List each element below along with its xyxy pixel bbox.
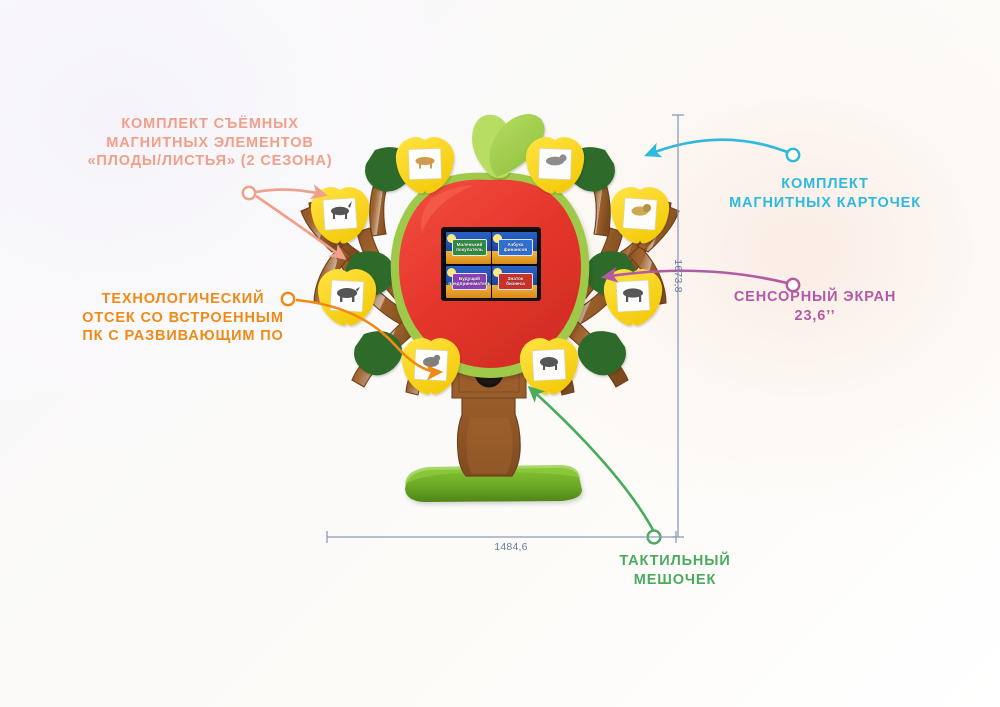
cover-title: Азбука финансов xyxy=(499,243,531,253)
callout-label-magnetic-set: КОМПЛЕКТ СЪЁМНЫХ МАГНИТНЫХ ЭЛЕМЕНТОВ «ПЛ… xyxy=(60,115,360,171)
cover-title: Знаток бизнеса xyxy=(499,277,531,287)
leader-marker-magnetic-set xyxy=(243,187,255,199)
callout-label-touch-screen: СЕНСОРНЫЙ ЭКРАН 23,6’’ xyxy=(700,288,930,325)
leader-magnetic-set xyxy=(243,187,344,258)
dimension-height xyxy=(672,115,684,537)
leader-magnetic-cards xyxy=(647,140,799,161)
leader-marker-magnetic-cards xyxy=(787,149,799,161)
dimension-height-value: 1673,8 xyxy=(672,246,684,306)
callout-label-magnetic-cards: КОМПЛЕКТ МАГНИТНЫХ КАРТОЧЕК xyxy=(700,175,950,212)
cover-title: Будущий предприниматель xyxy=(447,277,491,287)
cover-title: Маленький покупатель xyxy=(453,243,485,253)
diagram-canvas: Маленький покупатель Азбука финансов Буд… xyxy=(0,0,1000,707)
annotation-layer xyxy=(0,0,1000,707)
dimension-width-value: 1484,6 xyxy=(466,541,556,553)
leader-tactile-bag xyxy=(530,388,660,543)
callout-label-tactile-bag: ТАКТИЛЬНЫЙ МЕШОЧЕК xyxy=(580,552,770,589)
callout-label-tech-bay: ТЕХНОЛОГИЧЕСКИЙ ОТСЕК СО ВСТРОЕННЫМ ПК С… xyxy=(58,290,308,346)
